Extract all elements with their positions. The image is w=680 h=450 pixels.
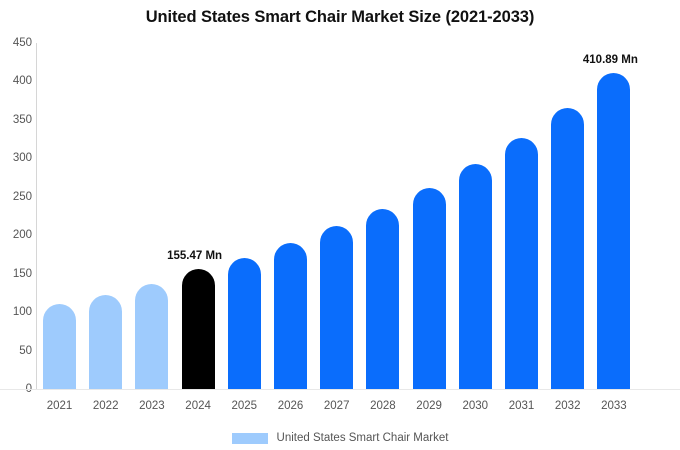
x-axis-tick-label-2024: 2024 xyxy=(182,400,215,412)
bar-value-label-2033: 410.89 Mn xyxy=(583,54,638,66)
bar-rect-2028[interactable] xyxy=(366,209,399,389)
y-axis-ticks: 450400350300250200150100500 xyxy=(0,0,32,450)
bar-rect-2029[interactable] xyxy=(413,188,446,389)
bar-rect-2026[interactable] xyxy=(274,243,307,389)
x-axis-tick-label-2023: 2023 xyxy=(135,400,168,412)
bar-2026[interactable] xyxy=(274,243,307,389)
bar-2030[interactable] xyxy=(459,164,492,389)
y-axis-tick-label: 400 xyxy=(2,75,32,87)
y-axis-tick-label: 450 xyxy=(2,37,32,49)
x-axis-tick-label-2022: 2022 xyxy=(89,400,122,412)
x-axis-tick-label-2026: 2026 xyxy=(274,400,307,412)
bar-rect-2030[interactable] xyxy=(459,164,492,389)
bar-2028[interactable] xyxy=(366,209,399,389)
bar-rect-2021[interactable] xyxy=(43,304,76,389)
x-axis-tick-label-2031: 2031 xyxy=(505,400,538,412)
x-axis-tick-label-2021: 2021 xyxy=(43,400,76,412)
bar-rect-2023[interactable] xyxy=(135,284,168,389)
bar-rect-2022[interactable] xyxy=(89,295,122,389)
bar-2021[interactable] xyxy=(43,304,76,389)
bar-2023[interactable] xyxy=(135,284,168,389)
bar-rect-2032[interactable] xyxy=(551,108,584,389)
x-axis-tick-label-2033: 2033 xyxy=(597,400,630,412)
x-axis-tick-label-2030: 2030 xyxy=(459,400,492,412)
x-axis-tick-label-2027: 2027 xyxy=(320,400,353,412)
bar-rect-2027[interactable] xyxy=(320,226,353,389)
bar-2033[interactable] xyxy=(597,73,630,389)
chart-title: United States Smart Chair Market Size (2… xyxy=(0,8,680,27)
y-axis-tick-label: 250 xyxy=(2,191,32,203)
x-axis-tick-label-2028: 2028 xyxy=(366,400,399,412)
x-axis-line xyxy=(0,389,680,390)
bar-rect-2025[interactable] xyxy=(228,258,261,389)
bar-2032[interactable] xyxy=(551,108,584,389)
bar-2029[interactable] xyxy=(413,188,446,389)
bar-rect-2031[interactable] xyxy=(505,138,538,389)
x-axis-tick-label-2025: 2025 xyxy=(228,400,261,412)
legend-swatch-us-smart-chair-market xyxy=(232,433,268,444)
y-axis-tick-label: 350 xyxy=(2,114,32,126)
bar-2027[interactable] xyxy=(320,226,353,389)
y-axis-tick-label: 150 xyxy=(2,268,32,280)
bar-2022[interactable] xyxy=(89,295,122,389)
x-axis-tick-label-2029: 2029 xyxy=(413,400,446,412)
y-axis-tick-label: 200 xyxy=(2,229,32,241)
bar-2024[interactable] xyxy=(182,269,215,389)
y-axis-tick-label: 50 xyxy=(2,345,32,357)
bar-2031[interactable] xyxy=(505,138,538,389)
bar-2025[interactable] xyxy=(228,258,261,389)
chart-legend: United States Smart Chair Market xyxy=(0,432,680,444)
y-axis-line xyxy=(36,43,37,389)
y-axis-tick-label: 100 xyxy=(2,306,32,318)
bar-rect-2033[interactable] xyxy=(597,73,630,389)
y-axis-tick-label: 300 xyxy=(2,152,32,164)
bar-rect-2024[interactable] xyxy=(182,269,215,389)
bar-chart: United States Smart Chair Market Size (2… xyxy=(0,0,680,450)
x-axis-tick-label-2032: 2032 xyxy=(551,400,584,412)
bar-value-label-2024: 155.47 Mn xyxy=(167,250,222,262)
legend-label-us-smart-chair-market: United States Smart Chair Market xyxy=(277,432,449,444)
